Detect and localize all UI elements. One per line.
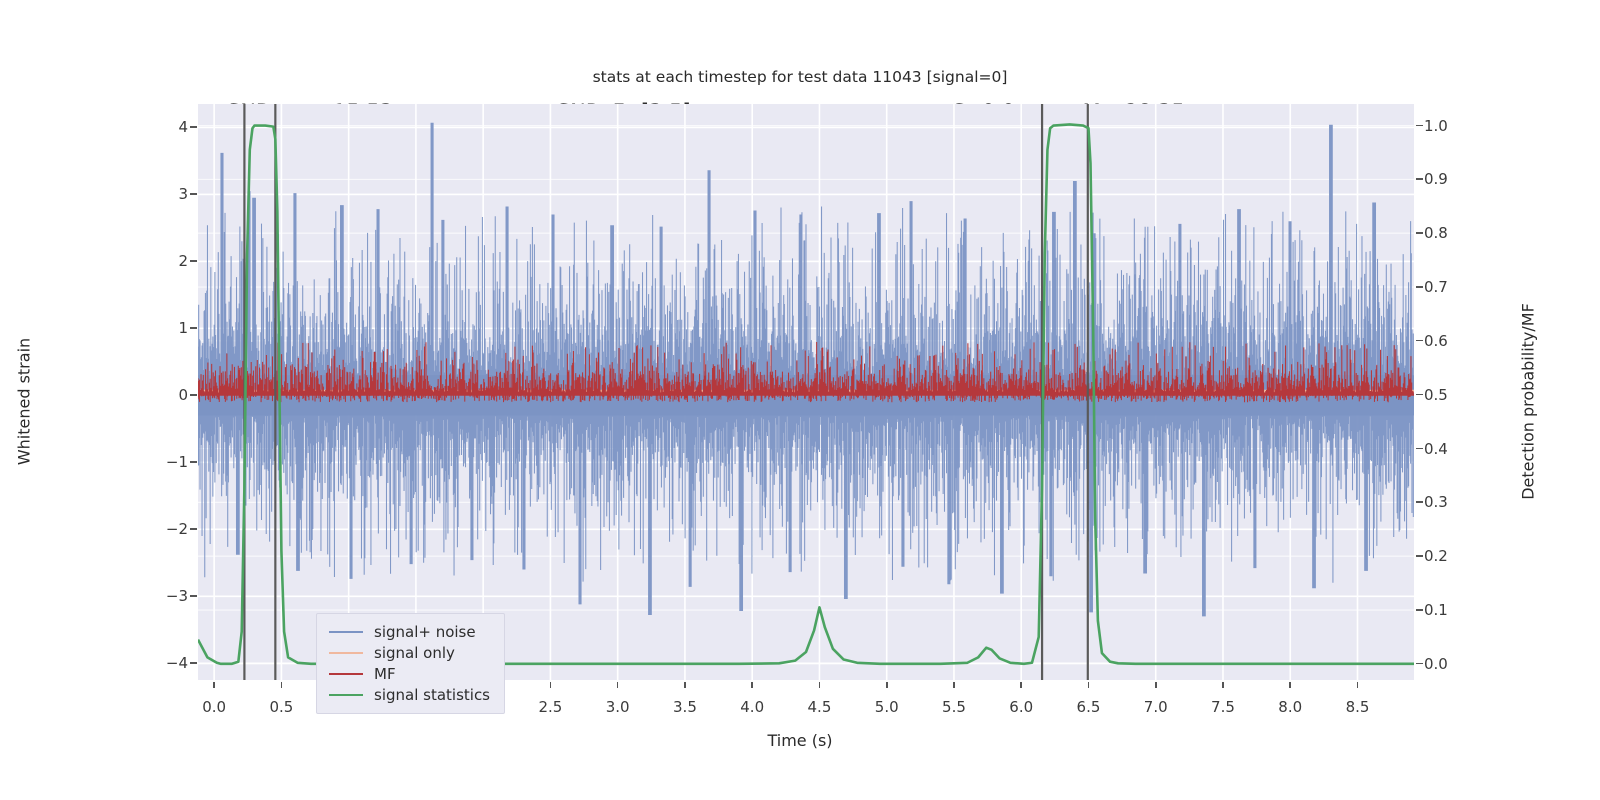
y-tick-label-right: 0.8 [1424,224,1448,242]
x-tick-mark [550,682,552,688]
y-tick-mark-left [190,461,197,463]
y-tick-label-left: −3 [166,587,188,605]
y-tick-mark-left [190,662,197,664]
y-tick-label-right: 0.9 [1424,170,1448,188]
x-tick-label: 3.5 [673,698,697,716]
x-tick-label: 5.0 [875,698,899,716]
x-tick-label: 2.5 [538,698,562,716]
x-tick-label: 8.5 [1346,698,1370,716]
legend-swatch-icon [329,631,363,633]
x-tick-mark [213,682,215,688]
x-tick-label: 6.0 [1009,698,1033,716]
y-tick-mark-right [1416,340,1423,342]
y-tick-label-left: 2 [178,252,188,270]
y-tick-label-right: 0.1 [1424,601,1448,619]
x-tick-label: 7.5 [1211,698,1235,716]
y-tick-mark-left [190,394,197,396]
y-tick-mark-right [1416,663,1423,665]
y-tick-label-left: 3 [178,185,188,203]
x-tick-label: 4.0 [740,698,764,716]
legend-swatch-icon [329,652,363,654]
y-tick-label-left: −2 [166,520,188,538]
y-tick-mark-left [190,595,197,597]
y-tick-mark-left [190,193,197,195]
y-tick-label-right: 0.4 [1424,440,1448,458]
y-tick-label-right: 1.0 [1424,117,1448,135]
y-tick-label-right: 0.7 [1424,278,1448,296]
legend-swatch-icon [329,694,363,696]
x-tick-mark [1155,682,1157,688]
x-tick-mark [886,682,888,688]
x-tick-mark [281,682,283,688]
legend-item: signal only [329,642,490,663]
x-tick-label: 0.5 [269,698,293,716]
y-tick-mark-right [1416,232,1423,234]
x-tick-label: 7.0 [1144,698,1168,716]
y-tick-label-right: 0.6 [1424,332,1448,350]
y-tick-label-left: 4 [178,118,188,136]
y-tick-label-right: 0.5 [1424,386,1448,404]
page-title: stats at each timestep for test data 110… [0,68,1600,86]
x-tick-mark [953,682,955,688]
y-axis-label-left: Whitened strain [15,252,34,552]
legend-label: signal statistics [374,686,490,704]
y-tick-mark-right [1416,394,1423,396]
y-tick-mark-right [1416,609,1423,611]
y-tick-label-left: 0 [178,386,188,404]
y-tick-mark-right [1416,286,1423,288]
x-tick-label: 5.5 [942,698,966,716]
y-tick-mark-left [190,327,197,329]
y-tick-mark-right [1416,555,1423,557]
plot-svg [198,104,1414,680]
y-tick-mark-left [190,126,197,128]
y-tick-mark-left [190,528,197,530]
y-tick-label-left: −4 [166,654,188,672]
x-axis-label: Time (s) [0,731,1600,750]
x-tick-mark [684,682,686,688]
y-tick-label-right: 0.2 [1424,547,1448,565]
legend-item: signal+ noise [329,621,490,642]
x-tick-mark [1222,682,1224,688]
x-tick-label: 3.0 [606,698,630,716]
x-tick-label: 0.0 [202,698,226,716]
y-tick-label-left: 1 [178,319,188,337]
x-tick-mark [617,682,619,688]
x-tick-label: 6.5 [1077,698,1101,716]
x-tick-mark [819,682,821,688]
y-tick-label-right: 0.3 [1424,493,1448,511]
y-tick-label-left: −1 [166,453,188,471]
x-tick-mark [1088,682,1090,688]
x-tick-mark [1289,682,1291,688]
figure: stats at each timestep for test data 110… [0,0,1600,800]
x-tick-label: 4.5 [808,698,832,716]
y-tick-mark-right [1416,178,1423,180]
legend-swatch-icon [329,673,363,675]
legend-item: signal statistics [329,684,490,705]
y-axis-label-right: Detection probability/MF [1519,252,1538,552]
x-tick-mark [1357,682,1359,688]
legend-label: signal+ noise [374,623,476,641]
legend-label: signal only [374,644,455,662]
y-tick-mark-right [1416,448,1423,450]
x-tick-label: 8.0 [1278,698,1302,716]
y-tick-mark-right [1416,501,1423,503]
y-tick-mark-left [190,260,197,262]
y-tick-mark-right [1416,125,1423,127]
x-tick-mark [751,682,753,688]
x-tick-mark [1020,682,1022,688]
legend-item: MF [329,663,490,684]
plot-area [198,104,1414,680]
legend-label: MF [374,665,396,683]
legend: signal+ noisesignal onlyMFsignal statist… [316,613,505,714]
y-tick-label-right: 0.0 [1424,655,1448,673]
